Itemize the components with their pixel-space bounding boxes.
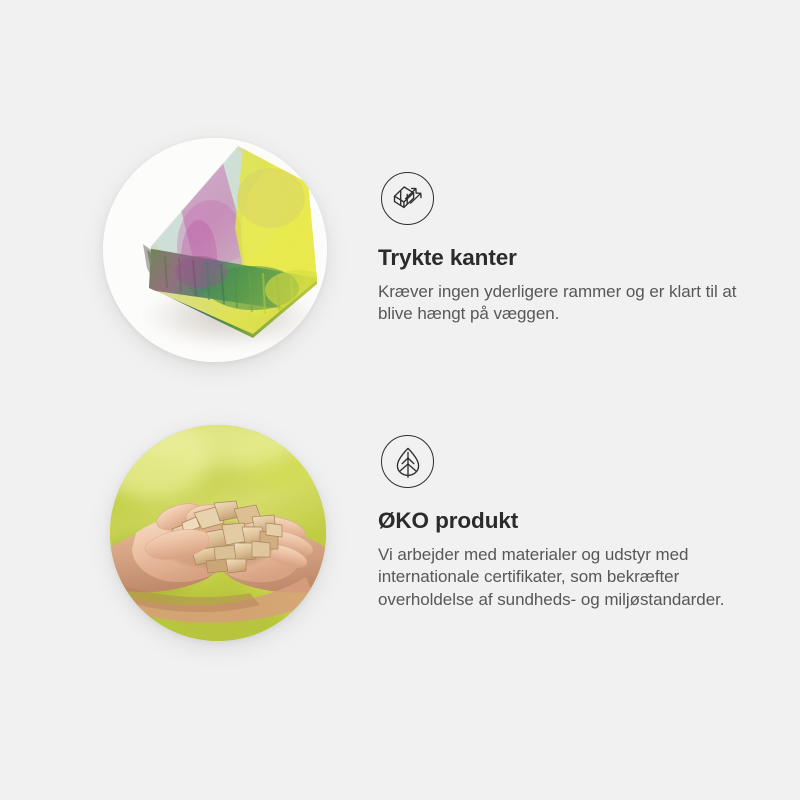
hands-wood-chips-image — [110, 425, 326, 641]
printed-edges-icon — [381, 172, 434, 225]
feature-text-printed-edges: Trykte kanter Kræver ingen yderligere ra… — [378, 120, 770, 326]
feature-block-printed-edges: Trykte kanter Kræver ingen yderligere ra… — [0, 120, 800, 400]
leaf-glyph — [392, 446, 424, 478]
feature-text-eco-product: ØKO produkt Vi arbejder med materialer o… — [378, 400, 770, 611]
leaf-icon — [381, 435, 434, 488]
canvas-print-corner-photo — [103, 138, 327, 362]
feature-title: ØKO produkt — [378, 510, 770, 533]
feature-description: Kræver ingen yderligere rammer og er kla… — [378, 281, 756, 326]
printed-edges-glyph — [391, 182, 425, 216]
feature-block-eco-product: ØKO produkt Vi arbejder med materialer o… — [0, 400, 800, 680]
canvas-print-corner-image — [103, 138, 327, 362]
feature-description: Vi arbejder med materialer og udstyr med… — [378, 544, 756, 612]
hands-holding-wood-chips-photo — [110, 425, 326, 641]
feature-title: Trykte kanter — [378, 247, 770, 270]
product-features-panel: Trykte kanter Kræver ingen yderligere ra… — [0, 0, 800, 800]
